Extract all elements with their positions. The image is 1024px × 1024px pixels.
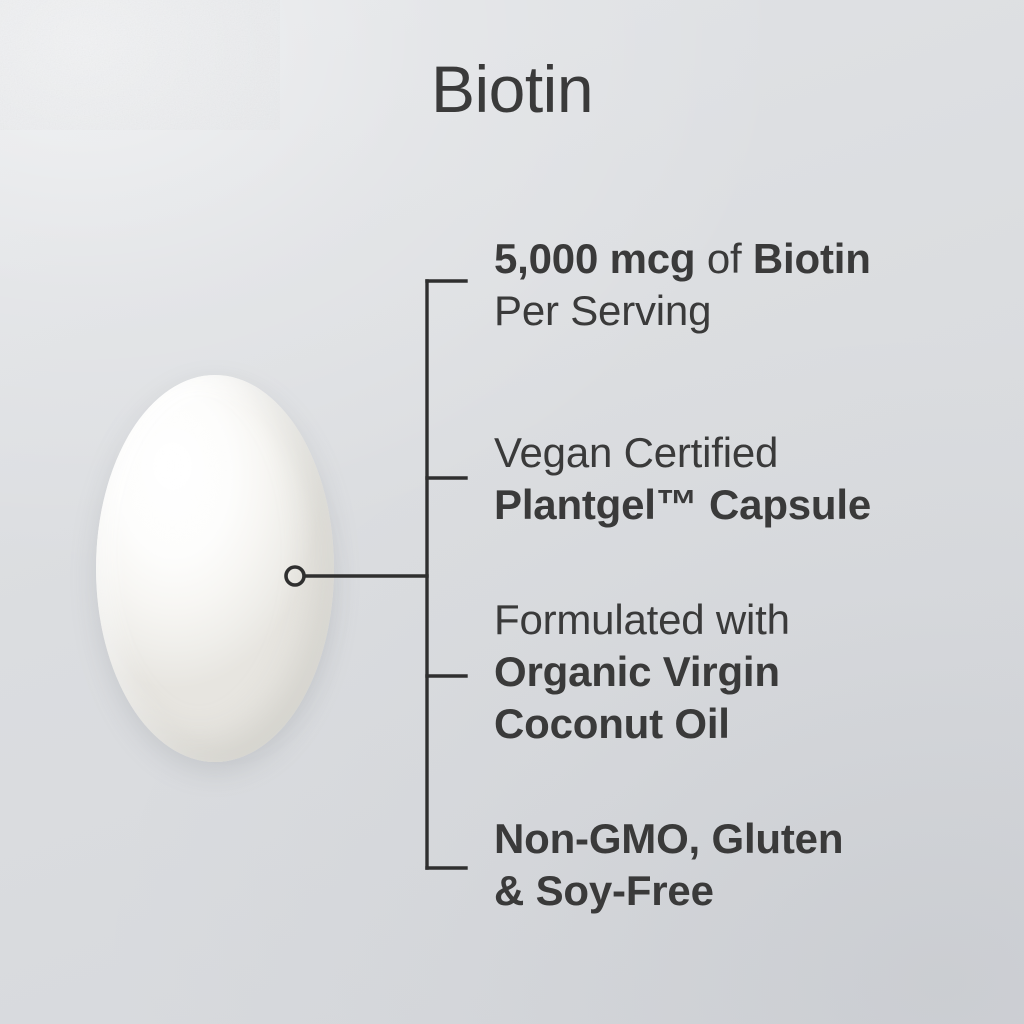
feature-block-capsule-type: Vegan CertifiedPlantgel™ Capsule [494,427,940,531]
feature-block-free-from: Non-GMO, Gluten& Soy-Free [494,813,940,917]
feature-text-segment: of [695,235,753,282]
feature-text-segment: Organic Virgin [494,648,780,695]
feature-line: Non-GMO, Gluten [494,813,940,865]
feature-line: Per Serving [494,285,940,337]
feature-text-segment: Formulated with [494,596,790,643]
feature-block-dosage: 5,000 mcg of BiotinPer Serving [494,233,940,337]
infographic-canvas: Biotin 5,000 mcg of BiotinPer Serving Ve… [0,0,1024,1024]
feature-text-segment: Coconut Oil [494,700,730,747]
feature-text-segment: 5,000 mcg [494,235,695,282]
feature-line: Coconut Oil [494,698,940,750]
feature-line: & Soy-Free [494,865,940,917]
feature-text-segment: Per Serving [494,287,711,334]
feature-text-segment: Vegan Certified [494,429,778,476]
feature-text-segment: & Soy-Free [494,867,714,914]
feature-text-segment: Biotin [753,235,871,282]
feature-line: Vegan Certified [494,427,940,479]
circle-marker-icon [286,567,304,585]
feature-line: Plantgel™ Capsule [494,479,940,531]
feature-line: 5,000 mcg of Biotin [494,233,940,285]
feature-text-segment: Non-GMO, Gluten [494,815,843,862]
feature-line: Organic Virgin [494,646,940,698]
feature-text-segment: Plantgel™ Capsule [494,481,871,528]
feature-line: Formulated with [494,594,940,646]
feature-block-formulation: Formulated withOrganic VirginCoconut Oil [494,594,940,750]
